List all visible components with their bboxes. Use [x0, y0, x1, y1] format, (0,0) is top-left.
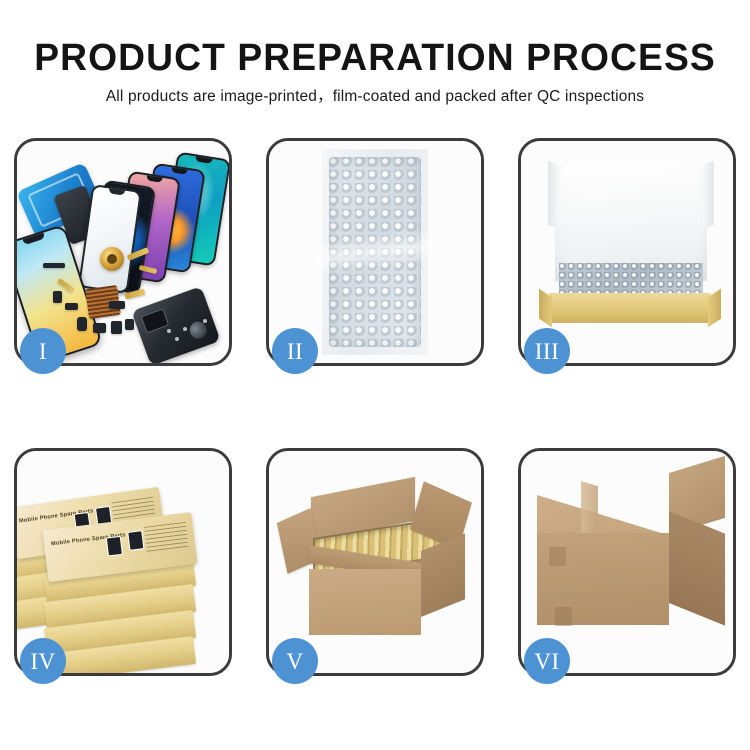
step-badge-5: V: [272, 638, 318, 684]
carton-patch-icon: [555, 607, 572, 626]
page-subtitle: All products are image-printed，film-coat…: [0, 87, 750, 107]
screw-icon: [167, 329, 171, 333]
step-panel-1[interactable]: I: [14, 138, 232, 366]
carton-front-face: [309, 569, 421, 635]
part-chip-icon: [93, 323, 106, 333]
step-badge-4: IV: [20, 638, 66, 684]
step-panel-2[interactable]: II: [266, 138, 484, 366]
phone-back-housing-icon: [131, 286, 220, 363]
phone-swatch-icon: [127, 530, 144, 551]
screw-icon: [203, 319, 207, 323]
header: PRODUCT PREPARATION PROCESS All products…: [0, 36, 750, 107]
mailer-box-front-icon: [549, 293, 711, 323]
step-panel-5[interactable]: V: [266, 448, 484, 676]
mailer-box-contents-icon: [559, 263, 703, 295]
page-title: PRODUCT PREPARATION PROCESS: [8, 36, 743, 80]
step-badge-3: III: [524, 328, 570, 374]
product-preparation-infographic: PRODUCT PREPARATION PROCESS All products…: [0, 0, 750, 750]
step-panel-4[interactable]: Mobile Phone Spare Parts Mobile Phone Sp…: [14, 448, 232, 676]
phone-swatch-icon: [106, 536, 123, 557]
part-chip-icon: [77, 317, 87, 331]
sealed-carton-side-face: [669, 511, 725, 626]
step-badge-2: II: [272, 328, 318, 374]
part-chip-icon: [109, 301, 125, 309]
carton-patch-icon: [549, 547, 566, 566]
part-chip-icon: [111, 321, 122, 334]
step-panel-6[interactable]: VI: [518, 448, 736, 676]
part-chip-icon: [65, 303, 78, 310]
part-chip-icon: [43, 263, 65, 268]
process-steps-grid: I II III: [14, 138, 736, 676]
screw-icon: [183, 327, 187, 331]
speaker-coil-icon: [100, 247, 124, 271]
step-badge-6: VI: [524, 638, 570, 684]
screw-icon: [175, 337, 179, 341]
part-chip-icon: [125, 319, 134, 330]
part-chip-icon: [53, 291, 62, 303]
step-panel-3[interactable]: III: [518, 138, 736, 366]
step-badge-1: I: [20, 328, 66, 374]
kraft-box-spec-lines: [144, 522, 189, 553]
